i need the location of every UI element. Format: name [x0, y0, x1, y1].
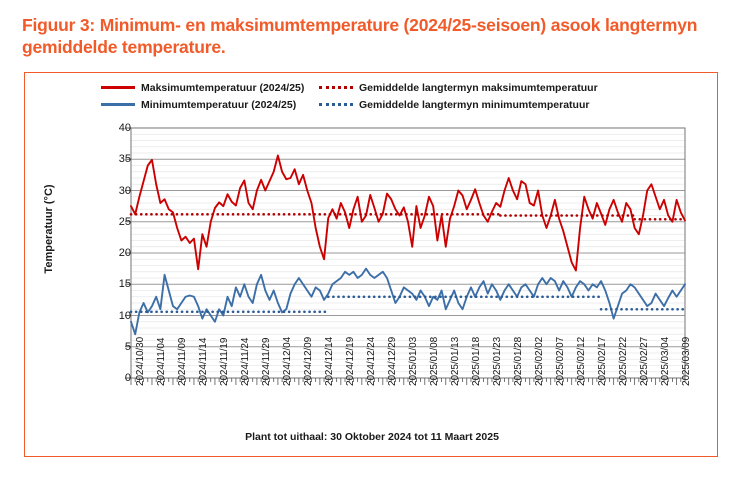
x-axis-caption: Plant tot uithaal: 30 Oktober 2024 tot 1… [25, 431, 719, 443]
x-tick-label: 2025/03/04 [660, 337, 671, 386]
x-tick-label: 2024/12/29 [387, 337, 398, 386]
x-tick-label: 2025/01/18 [471, 337, 482, 386]
page-title: Figuur 3: Minimum- en maksimumtemperatur… [22, 14, 722, 59]
x-axis-tick-labels: 2024/10/302024/11/042024/11/092024/11/14… [25, 73, 719, 458]
chart-frame: Maksimumtemperatuur (2024/25) Gemiddelde… [24, 72, 718, 457]
x-tick-label: 2024/12/09 [303, 337, 314, 386]
x-tick-label: 2024/11/24 [240, 338, 251, 386]
x-tick-label: 2025/02/22 [618, 337, 629, 386]
x-tick-label: 2024/11/29 [261, 338, 272, 386]
x-tick-label: 2025/02/07 [555, 337, 566, 386]
x-tick-label: 2024/11/04 [156, 338, 167, 386]
x-tick-label: 2024/11/19 [219, 338, 230, 386]
x-tick-label: 2025/01/03 [408, 337, 419, 386]
x-tick-label: 2025/02/27 [639, 337, 650, 386]
x-tick-label: 2024/12/19 [345, 337, 356, 386]
figure-page: Figuur 3: Minimum- en maksimumtemperatur… [0, 0, 744, 478]
x-tick-label: 2025/01/13 [450, 337, 461, 386]
x-tick-label: 2024/10/30 [135, 337, 146, 386]
x-tick-label: 2025/02/17 [597, 337, 608, 386]
x-tick-label: 2025/01/28 [513, 337, 524, 386]
plot-area: Temperatuur (°C) 0510152025303540 2024/1… [25, 73, 719, 458]
x-tick-label: 2025/03/09 [681, 337, 692, 386]
x-tick-label: 2024/12/04 [282, 337, 293, 386]
x-tick-label: 2025/01/23 [492, 337, 503, 386]
x-tick-label: 2025/02/02 [534, 337, 545, 386]
x-tick-label: 2024/11/09 [177, 338, 188, 386]
x-tick-label: 2024/11/14 [198, 338, 209, 386]
x-tick-label: 2024/12/24 [366, 337, 377, 386]
x-tick-label: 2024/12/14 [324, 337, 335, 386]
x-tick-label: 2025/02/12 [576, 337, 587, 386]
x-tick-label: 2025/01/08 [429, 337, 440, 386]
